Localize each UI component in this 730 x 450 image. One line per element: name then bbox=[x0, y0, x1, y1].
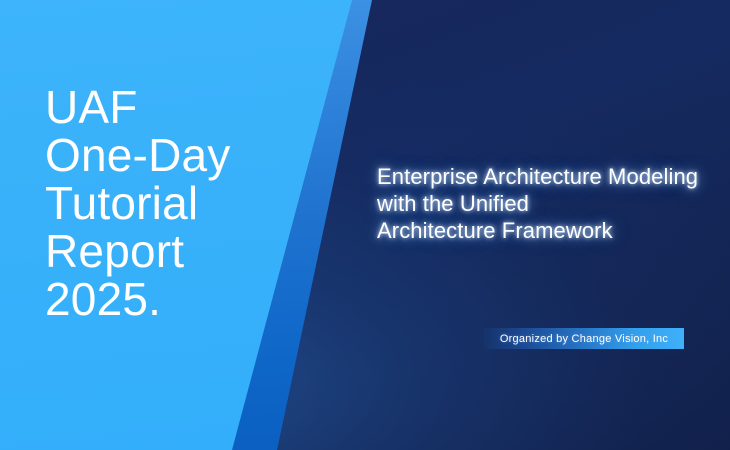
slide-subtitle: Enterprise Architecture Modeling with th… bbox=[377, 163, 717, 244]
slide-title: UAF One-Day Tutorial Report 2025. bbox=[45, 83, 295, 323]
title-slide: UAF One-Day Tutorial Report 2025. Enterp… bbox=[0, 0, 730, 450]
organizer-badge-label: Organized by Change Vision, Inc bbox=[500, 333, 668, 345]
organizer-badge: Organized by Change Vision, Inc bbox=[484, 328, 684, 349]
